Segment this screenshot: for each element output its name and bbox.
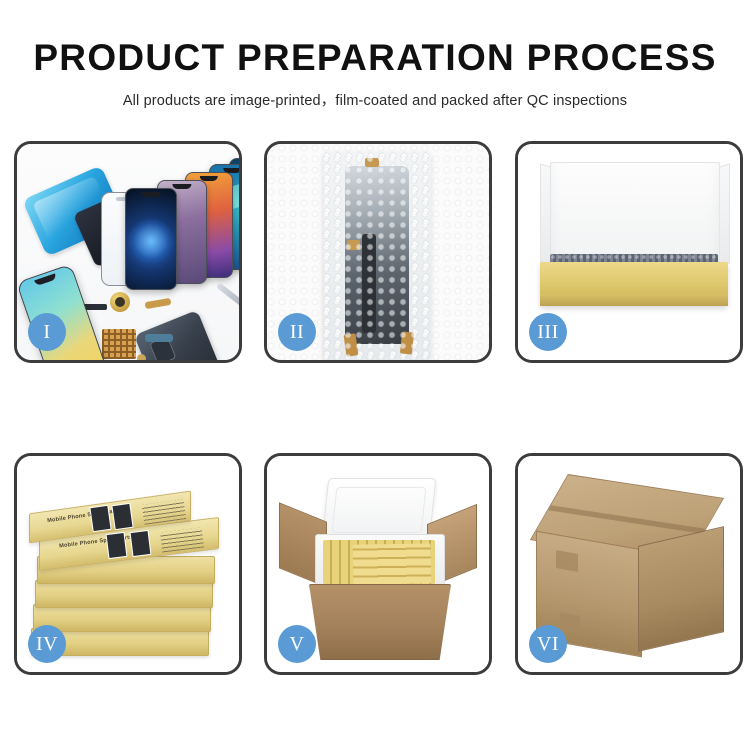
step-badge-1: I bbox=[28, 313, 66, 351]
tray-front-lip-icon bbox=[540, 294, 728, 306]
wrapped-screen-icon bbox=[345, 166, 409, 344]
step-panel-products-overview: I bbox=[14, 141, 242, 363]
product-preparation-infographic: PRODUCT PREPARATION PROCESS All products… bbox=[0, 0, 750, 750]
packed-boxes-icon bbox=[353, 543, 432, 584]
box-artwork-phone-icon bbox=[130, 530, 152, 557]
step-badge-4: IV bbox=[28, 625, 66, 663]
carton-body-icon bbox=[309, 584, 451, 660]
notch-icon bbox=[172, 184, 191, 189]
chip-grid-icon bbox=[102, 329, 136, 359]
step-badge-6: VI bbox=[529, 625, 567, 663]
step-panel-bubble-wrap-packing: II bbox=[264, 141, 492, 363]
box-artwork-phone-icon bbox=[111, 503, 133, 530]
tape-icon bbox=[400, 331, 414, 354]
step-panel-foam-carton-packing: V bbox=[264, 453, 492, 675]
carton-tape-patch-icon bbox=[560, 612, 580, 634]
carton-tape-patch-icon bbox=[556, 550, 578, 572]
steps-grid: I II bbox=[0, 0, 750, 750]
step-panel-sealed-carton: VI bbox=[515, 453, 743, 675]
stacked-box bbox=[33, 604, 211, 632]
carton-side-face-icon bbox=[638, 526, 724, 652]
box-artwork-phone-icon bbox=[89, 505, 111, 532]
phone-dark-blue-icon bbox=[125, 188, 177, 290]
stacked-box bbox=[35, 580, 213, 608]
step-panel-inner-box-packing: III bbox=[515, 141, 743, 363]
tape-icon bbox=[347, 240, 360, 250]
speaker-component-icon bbox=[110, 292, 130, 312]
box-artwork-phone-icon bbox=[106, 532, 128, 559]
tape-icon bbox=[365, 158, 379, 167]
step-panel-boxes-stacked: Mobile Phone Spare Parts Mobile Phone Sp… bbox=[14, 453, 242, 675]
notch-icon bbox=[141, 192, 161, 197]
screw-icon bbox=[137, 354, 146, 360]
flex-cable-icon bbox=[145, 334, 173, 342]
step-badge-5: V bbox=[278, 625, 316, 663]
step-badge-2: II bbox=[278, 313, 316, 351]
step-badge-3: III bbox=[529, 313, 567, 351]
foam-lid-icon bbox=[322, 478, 437, 542]
